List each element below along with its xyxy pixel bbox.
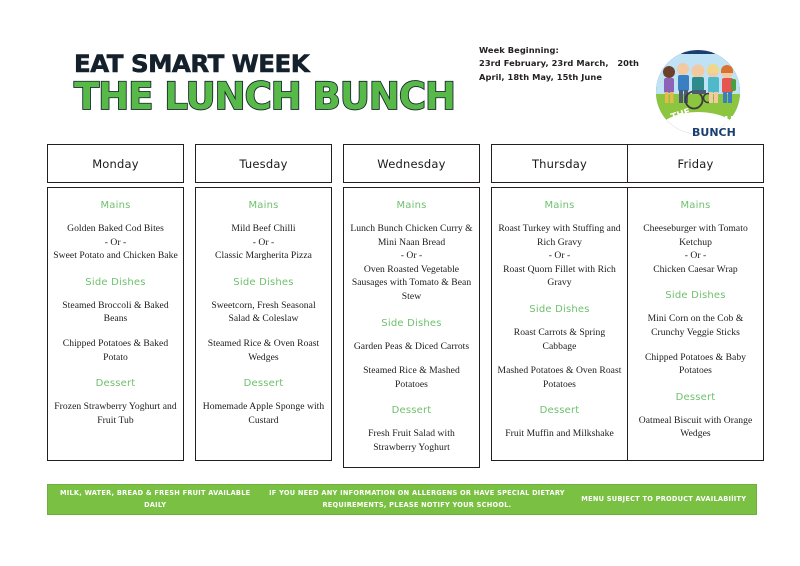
section-heading-dessert: Dessert — [349, 405, 474, 416]
section-heading-mains: Mains — [633, 200, 758, 211]
or-separator: - Or - — [633, 249, 758, 263]
day-body-friday: Mains Cheeseburger with Tomato Ketchup -… — [627, 187, 764, 461]
title-eat-smart-week: EAT SMART WEEK — [74, 52, 463, 76]
side-dish: Steamed Broccoli & Baked Beans — [53, 299, 178, 326]
the-lunch-bunch-logo: THE LUNCH BUNCH — [652, 46, 744, 138]
main-dish: Lunch Bunch Chicken Curry & Mini Naan Br… — [349, 222, 474, 304]
weekly-menu-grid: Monday Mains Golden Baked Cod Bites - Or… — [47, 144, 757, 469]
menu-title: EAT SMART WEEK THE LUNCH BUNCH — [74, 52, 455, 115]
day-body-monday: Mains Golden Baked Cod Bites - Or - Swee… — [47, 187, 184, 461]
day-name-tuesday: Tuesday — [239, 157, 287, 171]
footer-notice-allergens: IF YOU NEED ANY INFORMATION ON ALLERGENS… — [262, 488, 571, 511]
week-beginning-label: Week Beginning: — [479, 44, 639, 57]
main-dish: Roast Turkey with Stuffing and Rich Grav… — [497, 222, 622, 290]
section-heading-dessert: Dessert — [53, 378, 178, 389]
day-header-friday: Friday — [627, 144, 764, 183]
dessert-dish: Frozen Strawberry Yoghurt and Fruit Tub — [53, 400, 178, 427]
page-header: EAT SMART WEEK THE LUNCH BUNCH Week Begi… — [0, 0, 800, 140]
title-the-lunch-bunch: THE LUNCH BUNCH — [74, 78, 455, 115]
side-dish: Sweetcorn, Fresh Seasonal Salad & Colesl… — [201, 299, 326, 326]
or-separator: - Or - — [53, 236, 178, 250]
svg-text:BUNCH: BUNCH — [692, 126, 736, 138]
footer-notice-availability: MENU SUBJECT TO PRODUCT AVAILABIlITY — [572, 494, 756, 506]
day-body-thursday: Mains Roast Turkey with Stuffing and Ric… — [491, 187, 628, 461]
section-heading-dessert: Dessert — [497, 405, 622, 416]
main-dish: Mild Beef Chilli - Or - Classic Margheri… — [201, 222, 326, 263]
section-heading-side-dishes: Side Dishes — [349, 318, 474, 329]
section-heading-side-dishes: Side Dishes — [53, 277, 178, 288]
section-heading-side-dishes: Side Dishes — [633, 290, 758, 301]
side-dish: Steamed Rice & Oven Roast Wedges — [201, 337, 326, 364]
week-beginning-dates-line-2: April, 18th May, 15th June — [479, 71, 639, 84]
side-dish: Roast Carrots & Spring Cabbage — [497, 326, 622, 353]
dessert-dish: Homemade Apple Sponge with Custard — [201, 400, 326, 427]
day-header-wednesday: Wednesday — [343, 144, 480, 183]
or-separator: - Or - — [497, 249, 622, 263]
section-heading-mains: Mains — [349, 200, 474, 211]
day-column-tuesday: Tuesday Mains Mild Beef Chilli - Or - Cl… — [195, 144, 332, 461]
side-dish: Mini Corn on the Cob & Crunchy Veggie St… — [633, 312, 758, 339]
day-name-monday: Monday — [92, 157, 139, 171]
or-separator: - Or - — [349, 249, 474, 263]
day-name-friday: Friday — [677, 157, 713, 171]
dessert-dish: Fruit Muffin and Milkshake — [497, 427, 622, 441]
day-column-thursday: Thursday Mains Roast Turkey with Stuffin… — [491, 144, 628, 461]
week-beginning-dates-line-1: 23rd February, 23rd March, 20th — [479, 57, 639, 70]
day-column-wednesday: Wednesday Mains Lunch Bunch Chicken Curr… — [343, 144, 480, 468]
day-column-friday: Friday Mains Cheeseburger with Tomato Ke… — [627, 144, 764, 461]
day-body-wednesday: Mains Lunch Bunch Chicken Curry & Mini N… — [343, 187, 480, 468]
day-name-thursday: Thursday — [532, 157, 587, 171]
footer-notice-daily-items: MILK, WATER, BREAD & FRESH FRUIT AVAILAB… — [48, 488, 262, 511]
day-header-tuesday: Tuesday — [195, 144, 332, 183]
main-dish: Cheeseburger with Tomato Ketchup - Or - … — [633, 222, 758, 276]
section-heading-dessert: Dessert — [633, 392, 758, 403]
section-heading-side-dishes: Side Dishes — [201, 277, 326, 288]
dessert-dish: Oatmeal Biscuit with Orange Wedges — [633, 414, 758, 441]
dessert-dish: Fresh Fruit Salad with Strawberry Yoghur… — [349, 427, 474, 454]
section-heading-mains: Mains — [53, 200, 178, 211]
section-heading-dessert: Dessert — [201, 378, 326, 389]
footer-notice-bar: MILK, WATER, BREAD & FRESH FRUIT AVAILAB… — [47, 484, 757, 515]
side-dish: Steamed Rice & Mashed Potatoes — [349, 364, 474, 391]
section-heading-mains: Mains — [497, 200, 622, 211]
day-column-monday: Monday Mains Golden Baked Cod Bites - Or… — [47, 144, 184, 461]
side-dish: Garden Peas & Diced Carrots — [349, 340, 474, 354]
day-header-monday: Monday — [47, 144, 184, 183]
side-dish: Mashed Potatoes & Oven Roast Potatoes — [497, 364, 622, 391]
week-beginning-block: Week Beginning: 23rd February, 23rd Marc… — [479, 44, 639, 84]
section-heading-mains: Mains — [201, 200, 326, 211]
main-dish: Golden Baked Cod Bites - Or - Sweet Pota… — [53, 222, 178, 263]
or-separator: - Or - — [201, 236, 326, 250]
day-body-tuesday: Mains Mild Beef Chilli - Or - Classic Ma… — [195, 187, 332, 461]
day-header-thursday: Thursday — [491, 144, 628, 183]
section-heading-side-dishes: Side Dishes — [497, 304, 622, 315]
side-dish: Chipped Potatoes & Baby Potatoes — [633, 351, 758, 378]
side-dish: Chipped Potatoes & Baked Potato — [53, 337, 178, 364]
day-name-wednesday: Wednesday — [377, 157, 445, 171]
